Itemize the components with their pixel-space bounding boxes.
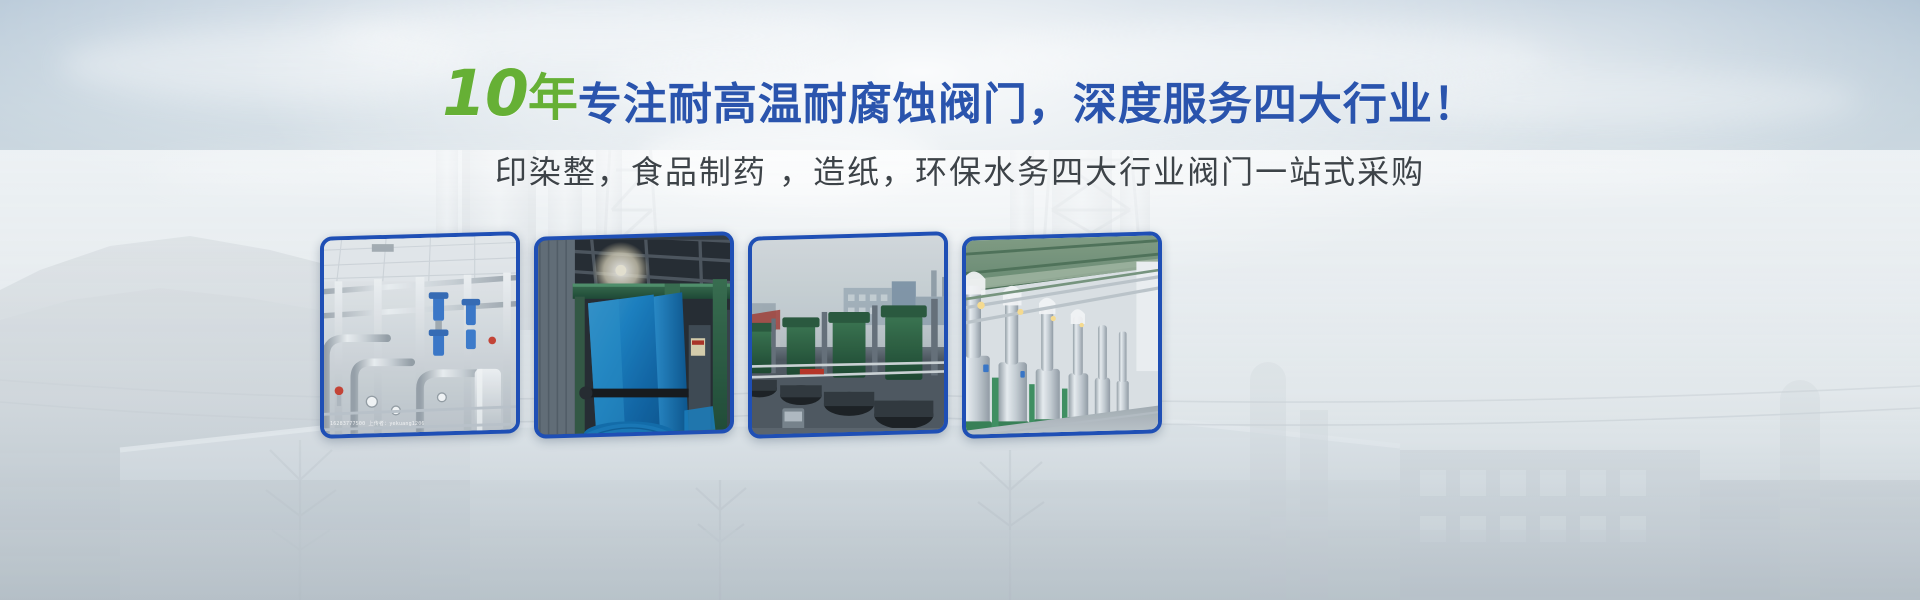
food-pharma-piping-photo: [320, 231, 520, 439]
thumbnail-environmental-water-plant[interactable]: [962, 231, 1162, 439]
thumbnail-paper-mill-line[interactable]: [748, 231, 948, 439]
thumbnail-textile-dyeing-line[interactable]: [534, 231, 734, 439]
thumbnail-food-pharma-piping[interactable]: 16283777500 上传者：yekuang1206: [320, 231, 520, 439]
thumbnail-strip: 16283777500 上传者：yekuang1206: [0, 0, 1920, 600]
textile-dyeing-line-photo: [534, 231, 734, 439]
paper-mill-line-photo: [748, 231, 948, 439]
hero-banner: 10年专注耐高温耐腐蚀阀门，深度服务四大行业！ 印染整，食品制药 ，造纸，环保水…: [0, 0, 1920, 600]
environmental-water-plant-photo: [962, 231, 1162, 439]
photo-watermark: 16283777500 上传者：yekuang1206: [330, 420, 425, 427]
